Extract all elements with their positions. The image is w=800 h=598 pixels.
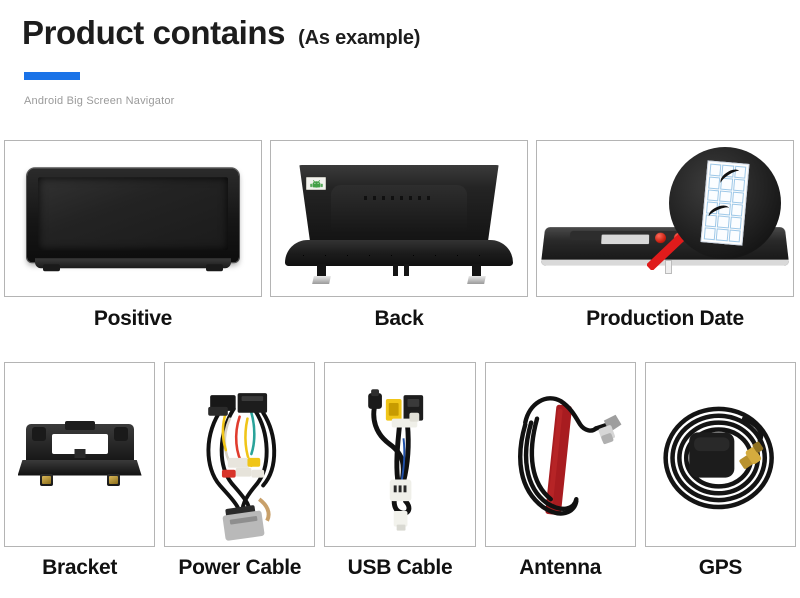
vent-holes <box>364 196 435 200</box>
monitor-front-image <box>5 141 261 296</box>
header-caption: Android Big Screen Navigator <box>24 95 175 107</box>
product-cell-production-date: Production Date <box>536 140 794 331</box>
usb-cable-image <box>325 363 474 546</box>
product-image-frame <box>4 140 262 297</box>
date-cell <box>716 229 728 242</box>
product-label-power-cable: Power Cable <box>164 556 315 580</box>
date-cell <box>719 190 731 203</box>
page-title-note: (As example) <box>298 27 420 50</box>
bracket-image <box>5 363 154 546</box>
product-image-frame <box>4 362 155 547</box>
bracket-screw-left <box>40 474 53 486</box>
rear-clip-right <box>467 276 486 284</box>
bracket-shelf <box>18 460 142 476</box>
rear-pin <box>404 264 409 276</box>
product-contains-page: Product contains (As example) Android Bi… <box>0 0 800 598</box>
date-cell <box>728 230 740 243</box>
product-cell-antenna: Antenna <box>485 362 636 580</box>
product-cell-bracket: Bracket <box>4 362 155 580</box>
monitor-bezel <box>27 168 239 262</box>
date-cell <box>732 191 744 204</box>
product-image-frame <box>324 362 475 547</box>
date-cell <box>707 189 719 202</box>
monitor-screen <box>38 177 228 250</box>
product-image-frame <box>485 362 636 547</box>
product-cell-gps: GPS <box>645 362 796 580</box>
product-row-bottom: Bracket <box>4 362 796 580</box>
rear-pin <box>393 264 398 276</box>
monitor-rear-shell <box>293 165 505 241</box>
monitor-rear-base <box>285 240 513 266</box>
monitor-rear-recess <box>331 185 467 232</box>
product-label-gps: GPS <box>645 556 796 580</box>
bracket-screw-right <box>107 474 120 486</box>
accent-bar <box>24 72 80 80</box>
bracket-opening <box>52 434 108 454</box>
product-cell-positive: Positive <box>4 140 262 331</box>
product-label-positive: Positive <box>4 307 262 331</box>
page-header: Product contains (As example) Android Bi… <box>0 0 800 130</box>
product-label-usb-cable: USB Cable <box>324 556 475 580</box>
product-label-back: Back <box>270 307 528 331</box>
date-cell <box>709 164 721 177</box>
antenna-image <box>486 363 635 546</box>
date-cell <box>708 176 720 189</box>
power-cable-image <box>165 363 314 546</box>
production-date-image <box>537 141 793 296</box>
bracket-ear-right <box>114 427 128 441</box>
product-cell-usb-cable: USB Cable <box>324 362 475 580</box>
product-label-bracket: Bracket <box>4 556 155 580</box>
production-date-sticker <box>701 160 750 245</box>
product-image-frame <box>270 140 528 297</box>
page-title: Product contains <box>22 16 285 49</box>
title-row: Product contains (As example) <box>22 16 420 50</box>
product-cell-power-cable: Power Cable <box>164 362 315 580</box>
product-image-frame <box>164 362 315 547</box>
bracket-ear-left <box>32 427 46 441</box>
monitor-foot-right <box>206 264 223 271</box>
monitor-foot-left <box>43 264 60 271</box>
product-image-frame <box>536 140 794 297</box>
product-row-top: Positive <box>4 140 796 331</box>
android-logo-icon <box>306 177 326 190</box>
product-label-production-date: Production Date <box>536 307 794 331</box>
bracket-assembly <box>18 418 142 492</box>
bracket-body <box>26 424 134 466</box>
product-image-frame <box>645 362 796 547</box>
gps-antenna-image <box>646 363 795 546</box>
date-cell <box>729 217 741 230</box>
monitor-back-image <box>271 141 527 296</box>
date-cell <box>704 227 716 240</box>
monitor-chin <box>35 258 231 268</box>
product-cell-back: Back <box>270 140 528 331</box>
date-cell <box>731 204 743 217</box>
rear-clip-left <box>312 276 331 284</box>
magnifier-callout <box>669 147 781 259</box>
unit-slot <box>601 235 649 244</box>
product-label-antenna: Antenna <box>485 556 636 580</box>
bracket-tab <box>65 421 95 430</box>
